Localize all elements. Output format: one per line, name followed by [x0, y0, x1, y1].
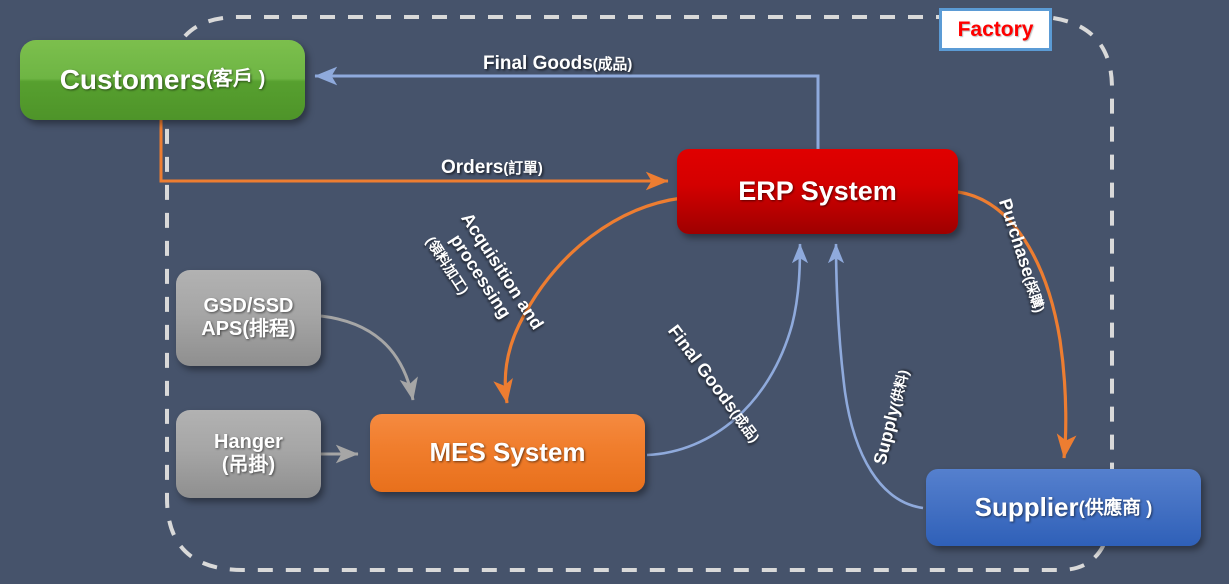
node-gsd-aps[interactable]: GSD/SSD APS(排程) [176, 270, 321, 366]
node-supplier-label-en: Supplier [975, 493, 1079, 523]
edge-label-orders-zh: (訂單) [503, 161, 543, 177]
node-erp-label-en: ERP System [738, 176, 897, 207]
node-gsd-line1: GSD/SSD [203, 295, 293, 318]
node-erp[interactable]: ERP System [677, 149, 958, 234]
edge-label-orders-en: Orders [441, 157, 503, 178]
node-customers-label-zh: (客戶 ) [206, 68, 265, 91]
node-mes-label-en: MES System [429, 438, 585, 468]
node-customers[interactable]: Customers(客戶 ) [20, 40, 305, 120]
diagram-canvas: Customers(客戶 ) ERP System GSD/SSD APS(排程… [0, 0, 1229, 584]
node-hanger-line1: Hanger [214, 431, 283, 454]
node-gsd-line2: APS(排程) [201, 318, 295, 341]
node-mes[interactable]: MES System [370, 414, 645, 492]
edge-erp-to-customers [315, 76, 818, 149]
node-hanger-line2: (吊掛) [222, 454, 275, 477]
edge-label-final-goods-top-zh: (成品) [593, 57, 633, 73]
node-customers-label-en: Customers [60, 64, 206, 96]
node-hanger[interactable]: Hanger (吊掛) [176, 410, 321, 498]
edge-gsd-to-mes [321, 316, 413, 400]
factory-boundary-label: Factory [939, 8, 1052, 51]
edge-label-final-goods-top: Final Goods(成品) [483, 53, 632, 75]
edge-customers-to-orders-erp [161, 120, 668, 181]
node-supplier[interactable]: Supplier(供應商 ) [926, 469, 1201, 546]
node-supplier-label-zh: (供應商 ) [1079, 497, 1153, 519]
edge-mes-to-erp [647, 244, 800, 455]
edge-label-final-goods-top-en: Final Goods [483, 53, 593, 74]
factory-label-text: Factory [958, 18, 1034, 42]
edge-label-orders: Orders(訂單) [441, 157, 543, 179]
